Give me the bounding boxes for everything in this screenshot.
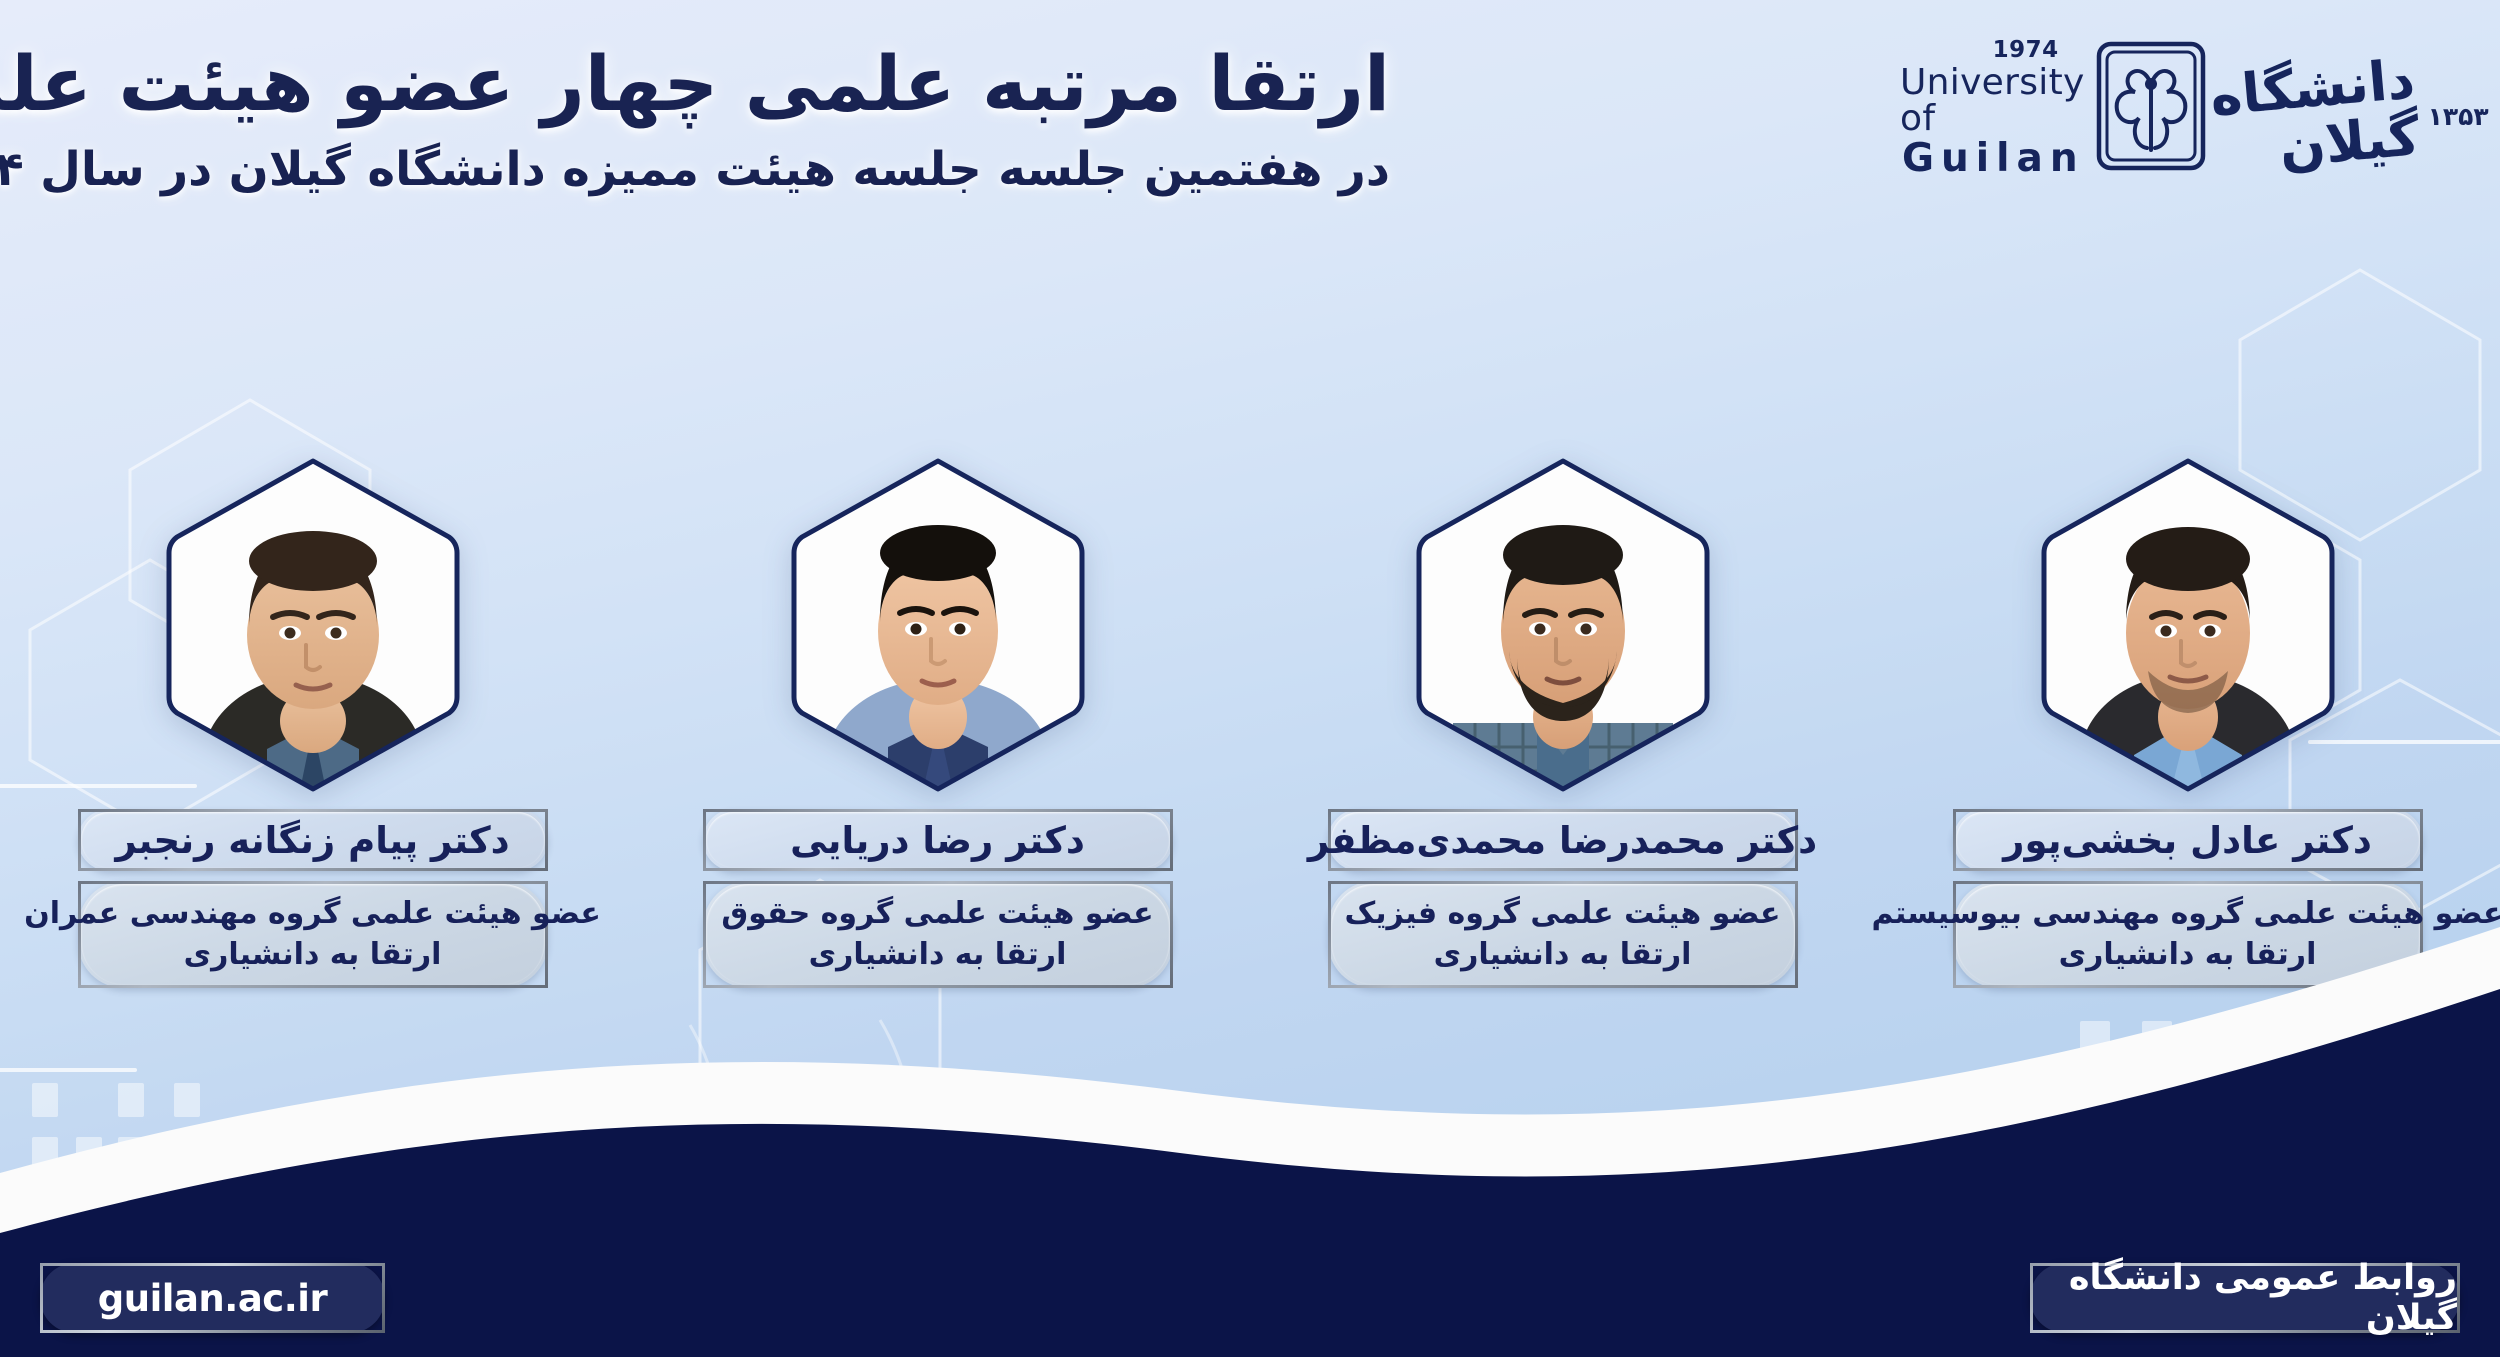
person-name-plate: دکتر پیام زنگانه رنجبر [78,809,548,871]
public-relations-badge: روابط عمومی دانشگاه گیلان [2030,1263,2460,1333]
person-name-plate: دکتر محمدرضا محمدی‌مظفر [1328,809,1798,871]
guilan-emblem-icon [2093,38,2209,178]
website-url-text: guilan.ac.ir [98,1277,327,1320]
person-name: دکتر رضا دریایی [790,819,1085,862]
person-role-plate: عضو هیئت علمی گروه مهندسی بیوسیستم ارتقا… [1953,881,2423,988]
public-relations-text: روابط عمومی دانشگاه گیلان [2033,1258,2457,1338]
person-card: دکتر پیام زنگانه رنجبر عضو هیئت علمی گرو… [33,455,593,988]
logo-name-fa: دانشگاه گیلان [2208,52,2422,183]
header-titles: ارتقا مرتبه علمی چهار عضو هیئت علمی در ه… [30,36,1390,200]
person-role-line2: ارتقا به دانشیاری [1872,934,2500,975]
person-card: دکتر عادل بخشی‌پور عضو هیئت علمی گروه مه… [1908,455,2468,988]
person-role-plate: عضو هیئت علمی گروه فیزیک ارتقا به دانشیا… [1328,881,1798,988]
logo-line1-en: University of [1900,65,2085,137]
people-row: دکتر عادل بخشی‌پور عضو هیئت علمی گروه مه… [0,455,2500,1015]
person-role-line2: ارتقا به دانشیاری [721,934,1153,975]
photo-hexagon-frame [788,455,1088,795]
university-logo: 1974 University of Guilan ۱۳۵۳ دانشگاه گ… [1900,38,2460,178]
person-role-plate: عضو هیئت علمی گروه مهندسی عمران ارتقا به… [78,881,548,988]
person-name: دکتر پیام زنگانه رنجبر [115,819,509,862]
logo-year-en: 1974 [1993,39,2059,62]
dot-grid-right [2070,1015,2320,1145]
person-role-line1: عضو هیئت علمی گروه حقوق [721,893,1153,934]
logo-year-fa: ۱۳۵۳ [2428,102,2489,131]
person-role-line2: ارتقا به دانشیاری [1345,934,1781,975]
photo-hexagon-frame [2038,455,2338,795]
logo-english-text: 1974 University of Guilan [1900,39,2085,178]
person-name-plate: دکتر رضا دریایی [703,809,1173,871]
poster-subtitle: در هفتمین جلسه جلسه هیئت ممیزه دانشگاه گ… [30,139,1390,200]
person-role-line2: ارتقا به دانشیاری [24,934,601,975]
poster-root: 1974 University of Guilan ۱۳۵۳ دانشگاه گ… [0,0,2500,1357]
dot-grid-left [18,1065,248,1275]
person-name: دکتر محمدرضا محمدی‌مظفر [1308,819,1817,862]
website-badge[interactable]: guilan.ac.ir [40,1263,385,1333]
person-role-line1: عضو هیئت علمی گروه مهندسی عمران [24,893,601,934]
person-card: دکتر رضا دریایی عضو هیئت علمی گروه حقوق … [658,455,1218,988]
person-name: دکتر عادل بخشی‌پور [2003,819,2372,862]
photo-hexagon-frame [163,455,463,795]
logo-line2-en: Guilan [1902,139,2085,178]
person-role-line1: عضو هیئت علمی گروه مهندسی بیوسیستم [1872,893,2500,934]
person-role-plate: عضو هیئت علمی گروه حقوق ارتقا به دانشیار… [703,881,1173,988]
poster-title: ارتقا مرتبه علمی چهار عضو هیئت علمی [30,36,1390,131]
person-name-plate: دکتر عادل بخشی‌پور [1953,809,2423,871]
logo-persian-text: ۱۳۵۳ دانشگاه گیلان [2217,51,2489,164]
photo-hexagon-frame [1413,455,1713,795]
person-card: دکتر محمدرضا محمدی‌مظفر عضو هیئت علمی گر… [1283,455,1843,988]
person-role-line1: عضو هیئت علمی گروه فیزیک [1345,893,1781,934]
